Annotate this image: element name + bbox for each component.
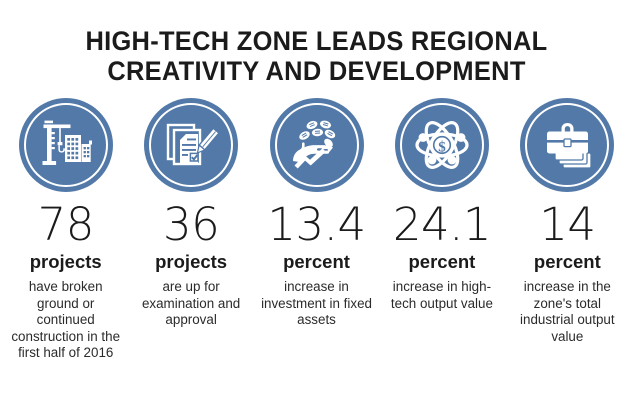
stat-number: 78 [38, 200, 94, 250]
stat-column-industrial-output: 14 percent increase in the zone's total … [505, 98, 630, 345]
construction-crane-buildings-icon [35, 114, 97, 176]
stat-unit: percent [283, 251, 350, 273]
stat-unit: projects [30, 251, 102, 273]
page-title: HIGH-TECH ZONE LEADS REGIONAL CREATIVITY… [0, 0, 633, 86]
stat-number: 14 [539, 200, 595, 250]
title-line-1: HIGH-TECH ZONE LEADS REGIONAL [13, 26, 621, 56]
stat-description: increase in investment in fixed assets [258, 279, 376, 329]
atom-dollar-icon: $ [410, 113, 474, 177]
title-line-2: CREATIVITY AND DEVELOPMENT [13, 56, 621, 86]
stat-column-projects-construction: 78 projects have broken ground or contin… [3, 98, 128, 362]
stat-description: are up for examination and approval [132, 279, 250, 329]
hand-coins-growth-arrow-icon [286, 114, 348, 176]
icon-badge-4: $ [395, 98, 489, 192]
icon-badge-5 [520, 98, 614, 192]
stat-description: have broken ground or continued construc… [7, 279, 125, 362]
stat-unit: projects [155, 251, 227, 273]
icon-badge-2 [144, 98, 238, 192]
stats-row: 78 projects have broken ground or contin… [0, 98, 633, 362]
stat-column-projects-approval: 36 projects are up for examination and a… [128, 98, 253, 329]
stat-unit: percent [409, 251, 476, 273]
stat-unit: percent [534, 251, 601, 273]
infographic-root: HIGH-TECH ZONE LEADS REGIONAL CREATIVITY… [0, 0, 633, 409]
icon-badge-1 [19, 98, 113, 192]
stat-number: 36 [163, 200, 219, 250]
documents-pencil-approval-icon [160, 114, 222, 176]
stat-description: increase in the zone's total industrial … [508, 279, 626, 345]
stat-description: increase in high-tech output value [383, 279, 501, 312]
stat-number: 13.4 [267, 200, 365, 250]
svg-text:$: $ [438, 139, 446, 155]
stat-number: 24.1 [393, 200, 491, 250]
stat-column-fixed-assets: 13.4 percent increase in investment in f… [254, 98, 379, 329]
icon-badge-3 [270, 98, 364, 192]
briefcase-cards-icon [537, 115, 597, 175]
stat-column-hightech-output: $ 24.1 percent increase in high-tech out… [379, 98, 504, 312]
